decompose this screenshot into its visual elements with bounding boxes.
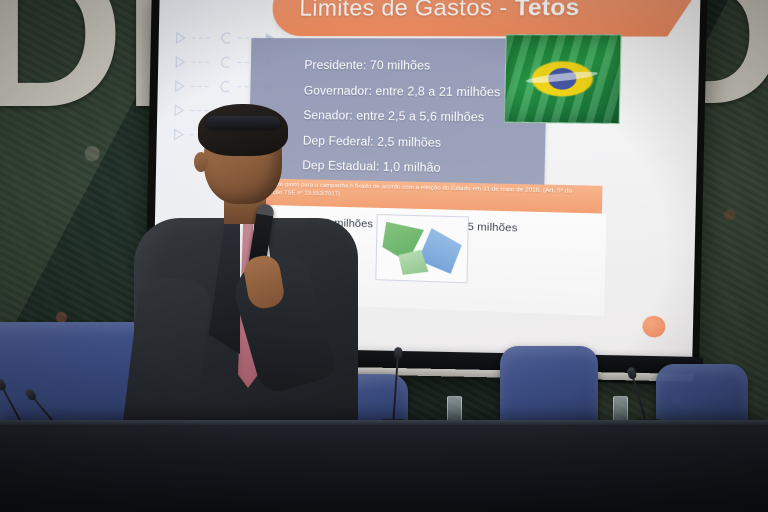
- flag-banner-band: [526, 70, 599, 86]
- chair-center: [500, 346, 598, 426]
- dash-icon: [191, 58, 213, 66]
- triangle-icon: [174, 56, 186, 68]
- loop-icon: [218, 55, 232, 69]
- glasses-icon: [206, 116, 280, 129]
- presentation-scene: DI ID Limites de Gastos - Tetos: [0, 0, 768, 512]
- triangle-icon: [174, 80, 186, 92]
- loop-icon: [218, 79, 232, 93]
- abstract-geometric-image: [375, 214, 469, 283]
- slide-title-regular: Limites de Gastos -: [299, 0, 515, 21]
- loop-icon: [219, 31, 233, 45]
- dash-icon: [191, 82, 213, 90]
- slide-title-bold: Tetos: [514, 0, 580, 21]
- brazil-flag-image: [504, 34, 622, 124]
- slide-title: Limites de Gastos - Tetos: [299, 0, 580, 22]
- dais-table: [0, 420, 768, 512]
- dash-icon: [192, 34, 214, 42]
- presenter-hair: [198, 104, 288, 156]
- table-edge: [0, 420, 768, 425]
- presenter-ear: [194, 152, 208, 172]
- triangle-icon: [175, 32, 187, 44]
- chair-right: [656, 364, 748, 426]
